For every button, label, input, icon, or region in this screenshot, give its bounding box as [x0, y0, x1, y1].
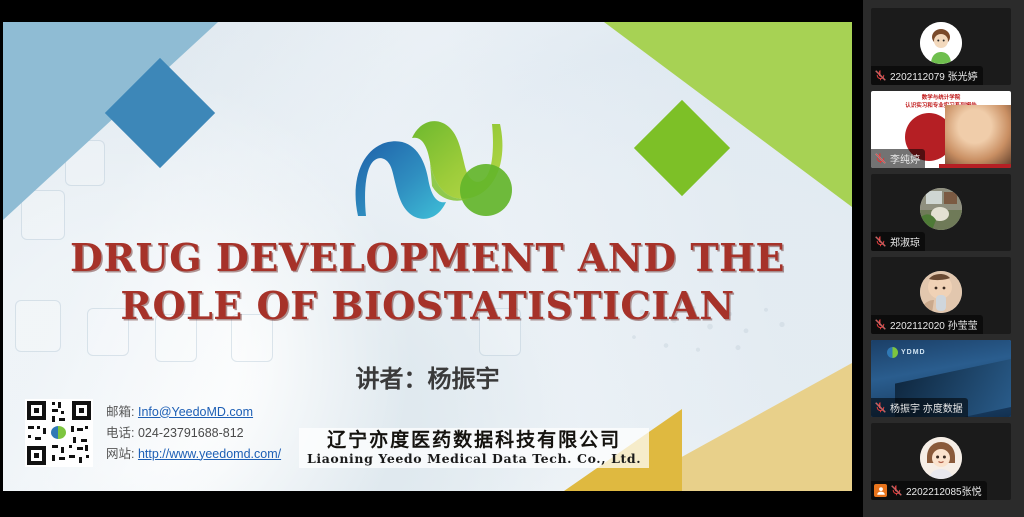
- avatar: [920, 22, 962, 64]
- contact-site-row: 网站: http://www.yeedomd.com/: [106, 444, 281, 465]
- contact-phone-value: 024-23791688-812: [138, 426, 244, 440]
- slide-title: Drug Development and the Role of Biostat…: [3, 234, 852, 330]
- participant-name: 郑淑琼: [890, 234, 920, 249]
- avatar-image: [920, 22, 962, 64]
- mic-muted-icon: [874, 152, 887, 165]
- contact-site-link[interactable]: http://www.yeedomd.com/: [138, 447, 281, 461]
- participant-tile[interactable]: 2202112079 张光婷: [871, 8, 1011, 85]
- participant-name-bar: 郑淑琼: [871, 232, 925, 251]
- company-name-cn: 辽宁亦度医药数据科技有限公司: [307, 429, 641, 451]
- contact-block: 邮箱: Info@YeedoMD.com 电话: 024-23791688-81…: [25, 399, 281, 467]
- contact-email-link[interactable]: Info@YeedoMD.com: [138, 405, 253, 419]
- participant-tile[interactable]: 2202212085张悦: [871, 423, 1011, 500]
- mic-muted-icon: [874, 318, 887, 331]
- contact-phone-row: 电话: 024-23791688-812: [106, 423, 281, 444]
- mic-muted-icon: [874, 401, 887, 414]
- meeting-window: Drug Development and the Role of Biostat…: [0, 0, 1024, 517]
- avatar-image: [920, 271, 962, 313]
- avatar-image: [920, 437, 962, 479]
- presentation-slide: Drug Development and the Role of Biostat…: [3, 22, 852, 491]
- screen-logo: YDMD: [887, 347, 926, 358]
- participant-tile[interactable]: 郑淑琼: [871, 174, 1011, 251]
- avatar: [920, 437, 962, 479]
- participant-tile[interactable]: YDMD 杨振宇 亦度数据: [871, 340, 1011, 417]
- host-badge: [874, 484, 887, 497]
- participant-name: 杨振宇 亦度数据: [890, 400, 963, 415]
- participant-name-bar: 杨振宇 亦度数据: [871, 398, 968, 417]
- speaker-line: 讲者：杨振宇: [3, 359, 852, 394]
- company-name-block: 辽宁亦度医药数据科技有限公司 Liaoning Yeedo Medical Da…: [299, 428, 649, 468]
- participant-name: 2202212085张悦: [906, 483, 982, 498]
- participant-name-bar: 李纯婷: [871, 149, 925, 168]
- mic-muted-icon: [890, 484, 903, 497]
- avatar: [920, 271, 962, 313]
- company-name-en: Liaoning Yeedo Medical Data Tech. Co., L…: [307, 451, 641, 466]
- mic-muted-icon: [874, 235, 887, 248]
- avatar: [920, 188, 962, 230]
- contact-email-label: 邮箱:: [106, 405, 134, 419]
- shared-screen-pane[interactable]: Drug Development and the Role of Biostat…: [0, 0, 863, 517]
- contact-phone-label: 电话:: [106, 426, 134, 440]
- banner-stripe: [939, 164, 1011, 168]
- qr-center-logo-icon: [51, 426, 66, 439]
- banner-line-1: 数学与统计学院: [871, 94, 1011, 102]
- mic-muted-icon: [874, 69, 887, 82]
- participant-tile[interactable]: 2202112020 孙莹莹: [871, 257, 1011, 334]
- participant-name-bar: 2202112020 孙莹莹: [871, 315, 983, 334]
- participant-name: 李纯婷: [890, 151, 920, 166]
- yeedo-logo-icon: [336, 108, 522, 230]
- contact-email-row: 邮箱: Info@YeedoMD.com: [106, 402, 281, 423]
- participant-name: 2202112020 孙莹莹: [890, 317, 978, 332]
- qr-code-image: [25, 399, 93, 467]
- participant-name: 2202112079 张光婷: [890, 68, 978, 83]
- participant-name-bar: 2202112079 张光婷: [871, 66, 983, 85]
- contact-site-label: 网站:: [106, 447, 134, 461]
- participant-face: [945, 105, 1011, 168]
- avatar-image: [920, 188, 962, 230]
- participant-name-bar: 2202212085张悦: [871, 481, 987, 500]
- screen-logo-text: YDMD: [901, 349, 926, 356]
- participant-filmstrip[interactable]: 2202112079 张光婷 数学与统计学院 认识实习和专业实习系列报告 李纯婷…: [863, 0, 1024, 517]
- participant-tile[interactable]: 数学与统计学院 认识实习和专业实习系列报告 李纯婷: [871, 91, 1011, 168]
- screen-logo-icon: [887, 347, 898, 358]
- host-person-icon: [876, 486, 886, 496]
- corner-triangle-green: [604, 22, 852, 207]
